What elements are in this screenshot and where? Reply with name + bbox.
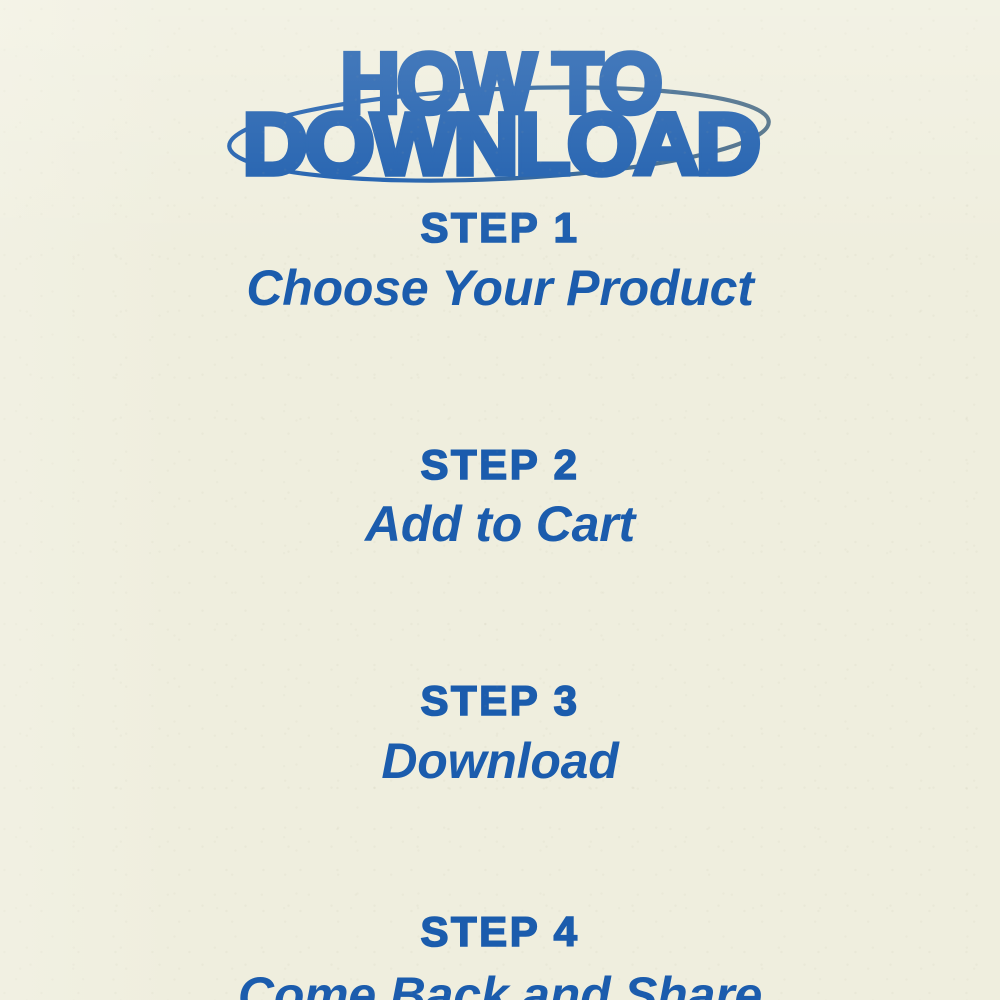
title-line-2: DOWNLOAD <box>0 100 1000 187</box>
step-1-label: STEP 1 <box>0 206 1000 251</box>
step-item-2: STEP 2 Add to Cart <box>0 443 1000 552</box>
how-to-download-poster: HOW TO DOWNLOAD STEP 1 Choose Your Produ… <box>0 0 1000 1000</box>
step-3-label: STEP 3 <box>0 679 1000 724</box>
step-1-description: Choose Your Product <box>0 261 1000 315</box>
step-2-label: STEP 2 <box>0 443 1000 488</box>
step-3-description: Download <box>0 734 1000 788</box>
step-4-description: Come Back and Share Your Experience <box>0 970 1000 1000</box>
step-2-description: Add to Cart <box>0 497 1000 551</box>
step-item-4: STEP 4 Come Back and Share Your Experien… <box>0 910 1000 1000</box>
title-block: HOW TO DOWNLOAD <box>0 26 1000 194</box>
step-item-1: STEP 1 Choose Your Product <box>0 206 1000 315</box>
steps-list: STEP 1 Choose Your Product STEP 2 Add to… <box>0 206 1000 1000</box>
step-item-3: STEP 3 Download <box>0 679 1000 788</box>
step-4-label: STEP 4 <box>0 910 1000 955</box>
